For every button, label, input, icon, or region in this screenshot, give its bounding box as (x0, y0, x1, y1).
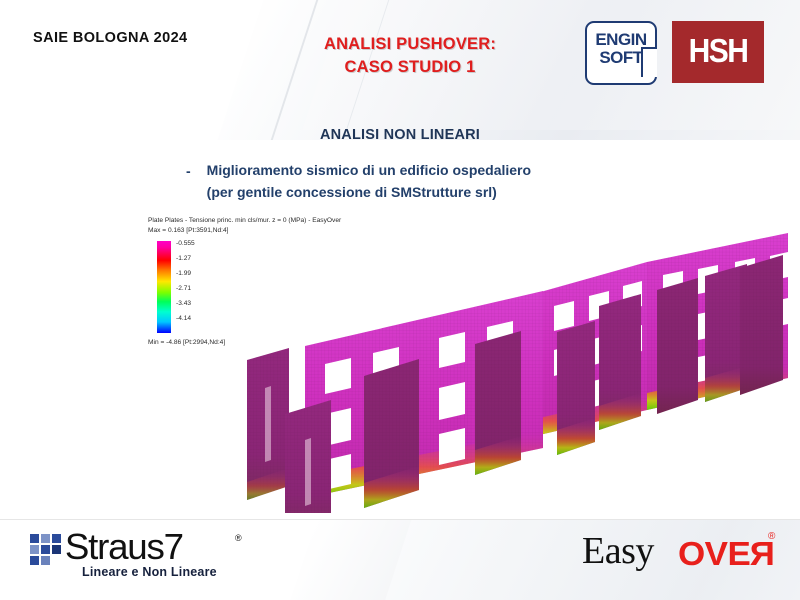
cross-wall-7 (657, 278, 698, 414)
colorbar-tick-2: -1.99 (176, 270, 191, 277)
slide-title: ANALISI PUSHOVER: CASO STUDIO 1 (240, 33, 580, 79)
hsh-logo: HSH (672, 21, 764, 83)
easyover-registered-mark: ® (768, 531, 775, 542)
enginsoft-logo-notch (641, 47, 657, 77)
easyover-logo: Easy OVER ® (582, 533, 782, 577)
colorbar-tick-0: -0.555 (176, 240, 195, 247)
easyover-easy-text: Easy (582, 529, 654, 573)
fea-max-label: Max = 0.163 [Pt:3591,Nd:4] (148, 227, 228, 234)
cross-wall-9 (740, 255, 783, 395)
fea-result-figure: Plate Plates - Tensione princ. min cls/m… (148, 216, 788, 516)
colorbar-tick-3: -2.71 (176, 285, 191, 292)
fea-colorbar (157, 241, 171, 333)
footer-divider (0, 519, 800, 520)
bullet-text: Miglioramento sismico di un edificio osp… (207, 160, 531, 203)
hsh-logo-text: HSH (672, 17, 764, 86)
fea-min-label: Min = -4.86 [Pt:2994,Nd:4] (148, 339, 225, 346)
easyover-over-part1: OVE (678, 535, 750, 572)
colorbar-tick-5: -4.14 (176, 315, 191, 322)
straus7-wordmark: Straus7 (65, 526, 183, 568)
colorbar-tick-1: -1.27 (176, 255, 191, 262)
cross-wall-1 (247, 348, 289, 500)
slide-title-line-1: ANALISI PUSHOVER: (240, 33, 580, 56)
cross-wall-6 (599, 294, 641, 430)
cross-wall-2 (285, 400, 331, 513)
fea-colorbar-ticks: -0.555 -1.27 -1.99 -2.71 -3.43 -4.14 (176, 240, 236, 336)
bullet-list-item: - Miglioramento sismico di un edificio o… (186, 160, 746, 203)
cross-wall-3 (364, 359, 419, 508)
straus7-logo: Straus7 ® Lineare e Non Lineare (30, 531, 310, 583)
fea-3d-model (243, 228, 788, 513)
straus7-grid-icon (30, 534, 62, 564)
bullet-marker: - (186, 160, 191, 182)
slide-title-line-2: CASO STUDIO 1 (240, 56, 580, 79)
bullet-text-line-1: Miglioramento sismico di un edificio osp… (207, 160, 531, 182)
colorbar-tick-4: -3.43 (176, 300, 191, 307)
enginsoft-logo: ENGIN SOFT (585, 21, 657, 85)
straus7-registered-mark: ® (235, 533, 242, 543)
straus7-tagline: Lineare e Non Lineare (82, 565, 217, 579)
presentation-slide: SAIE BOLOGNA 2024 ANALISI PUSHOVER: CASO… (0, 0, 800, 600)
event-label: SAIE BOLOGNA 2024 (33, 30, 188, 46)
cross-wall-5 (557, 321, 595, 455)
cross-wall-4 (475, 331, 521, 475)
easyover-over-text: OVER (678, 535, 775, 573)
fea-model-svg (243, 228, 788, 513)
section-heading: ANALISI NON LINEARI (0, 127, 800, 143)
bullet-text-line-2: (per gentile concessione di SMStrutture … (207, 182, 531, 204)
fea-caption: Plate Plates - Tensione princ. min cls/m… (148, 216, 341, 226)
